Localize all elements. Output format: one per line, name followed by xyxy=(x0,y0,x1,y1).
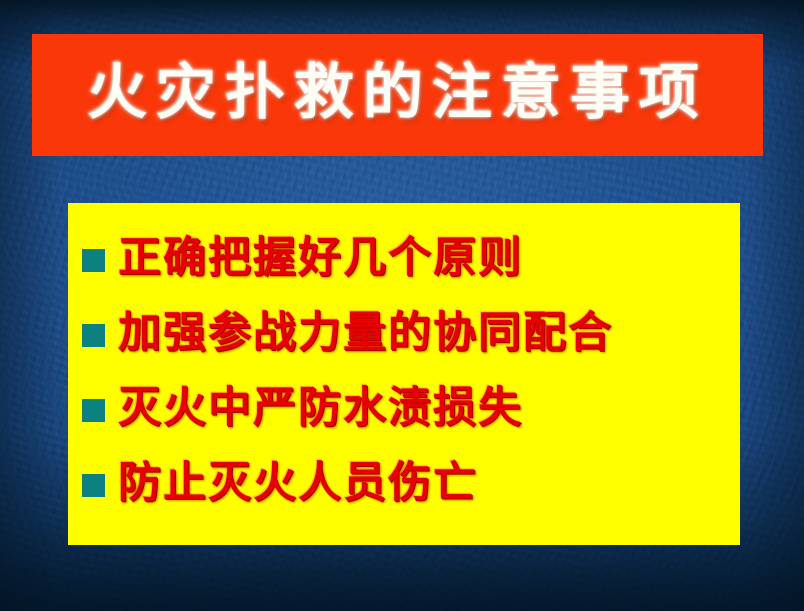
bullet-list: 正确把握好几个原则 加强参战力量的协同配合 灭火中严防水渍损失 防止灭火人员伤亡 xyxy=(68,221,740,521)
list-item: 正确把握好几个原则 xyxy=(68,221,740,296)
bullet-label: 防止灭火人员伤亡 xyxy=(118,462,478,505)
bullet-label: 灭火中严防水渍损失 xyxy=(118,387,523,430)
content-panel: 正确把握好几个原则 加强参战力量的协同配合 灭火中严防水渍损失 防止灭火人员伤亡 xyxy=(68,203,740,545)
square-bullet-icon xyxy=(82,399,105,422)
list-item: 灭火中严防水渍损失 xyxy=(68,371,740,446)
square-bullet-icon xyxy=(82,324,105,347)
bullet-label: 正确把握好几个原则 xyxy=(118,237,523,280)
bullet-label: 加强参战力量的协同配合 xyxy=(118,312,613,355)
title-banner: 火灾扑救的注意事项 xyxy=(32,34,763,156)
list-item: 防止灭火人员伤亡 xyxy=(68,446,740,521)
slide-title: 火灾扑救的注意事项 xyxy=(87,63,708,127)
square-bullet-icon xyxy=(82,249,105,272)
square-bullet-icon xyxy=(82,474,105,497)
list-item: 加强参战力量的协同配合 xyxy=(68,296,740,371)
presentation-slide: 火灾扑救的注意事项 正确把握好几个原则 加强参战力量的协同配合 灭火中严防水渍损… xyxy=(0,0,804,611)
